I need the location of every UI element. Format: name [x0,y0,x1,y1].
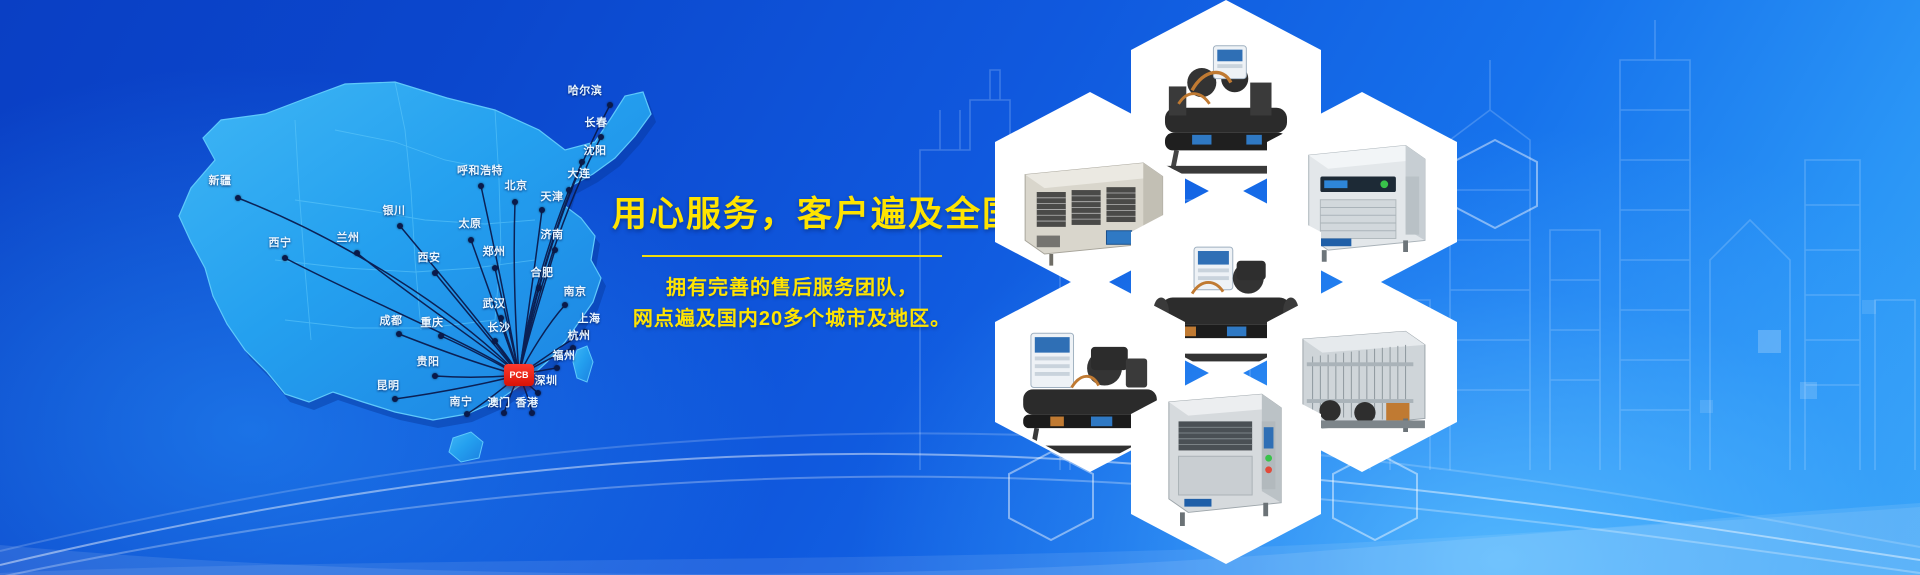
city-label-12: 西安 [418,249,441,265]
city-dot-28 [501,410,507,416]
city-label-29: 香港 [516,394,539,410]
product-hex-grid [955,0,1920,575]
city-dot-23 [432,373,438,379]
subtext-line-2: 网点遍及国内20多个城市及地区。 [612,304,972,335]
subtext-line-1: 拥有完善的售后服务团队， [612,273,972,304]
city-dot-27 [464,411,470,417]
city-dot-7 [397,223,403,229]
city-label-17: 武汉 [483,295,506,311]
city-dot-0 [607,102,613,108]
city-label-16: 南京 [564,283,587,299]
city-label-24: 福州 [553,347,576,363]
city-label-5: 北京 [505,177,528,193]
city-dot-8 [468,237,474,243]
city-dot-6 [539,207,545,213]
city-dot-10 [354,250,360,256]
hub-marker-pcb: PCB [504,364,534,386]
city-label-26: 昆明 [377,377,400,393]
city-label-1: 长春 [585,114,608,130]
city-label-10: 兰州 [337,229,360,245]
city-label-25: 深圳 [535,372,558,388]
city-dot-13 [282,255,288,261]
city-dot-24 [554,365,560,371]
promo-copy: 用心服务，客户遍及全国 拥有完善的售后服务团队， 网点遍及国内20多个城市及地区… [612,196,972,335]
city-label-13: 西宁 [269,234,292,250]
city-dot-29 [529,410,535,416]
city-label-28: 澳门 [488,394,511,410]
city-label-22: 杭州 [568,327,591,343]
city-dot-26 [392,396,398,402]
city-label-6: 天津 [541,188,564,204]
city-label-19: 重庆 [421,314,444,330]
city-label-21: 长沙 [488,319,511,335]
hub-label: PCB [509,370,528,380]
city-label-4: 呼和浩特 [457,162,503,178]
city-dot-11 [492,265,498,271]
city-label-3: 大连 [568,165,591,181]
headline-divider [642,255,942,257]
city-label-8: 太原 [459,215,482,231]
headline: 用心服务，客户遍及全国 [612,196,972,235]
city-label-11: 郑州 [483,243,506,259]
city-dot-5 [512,199,518,205]
city-dot-19 [438,333,444,339]
city-label-9: 济南 [541,226,564,242]
city-dot-9 [552,247,558,253]
city-label-27: 南宁 [450,393,473,409]
city-dot-20 [396,331,402,337]
city-label-14: 新疆 [209,172,232,188]
city-dot-15 [536,285,542,291]
city-dot-1 [598,134,604,140]
promo-banner: 哈尔滨长春沈阳大连呼和浩特北京天津银川太原济南兰州郑州西安西宁新疆合肥南京武汉上… [0,0,1920,575]
city-label-2: 沈阳 [584,142,607,158]
city-dot-21 [492,338,498,344]
city-dot-3 [566,187,572,193]
city-label-23: 贵阳 [417,353,440,369]
city-label-0: 哈尔滨 [568,82,603,98]
city-dot-16 [562,302,568,308]
city-dot-4 [478,183,484,189]
city-label-15: 合肥 [531,264,554,280]
city-label-20: 成都 [380,312,403,328]
city-dot-12 [432,270,438,276]
city-dot-14 [235,195,241,201]
city-label-18: 上海 [578,310,601,326]
city-label-7: 银川 [383,202,406,218]
